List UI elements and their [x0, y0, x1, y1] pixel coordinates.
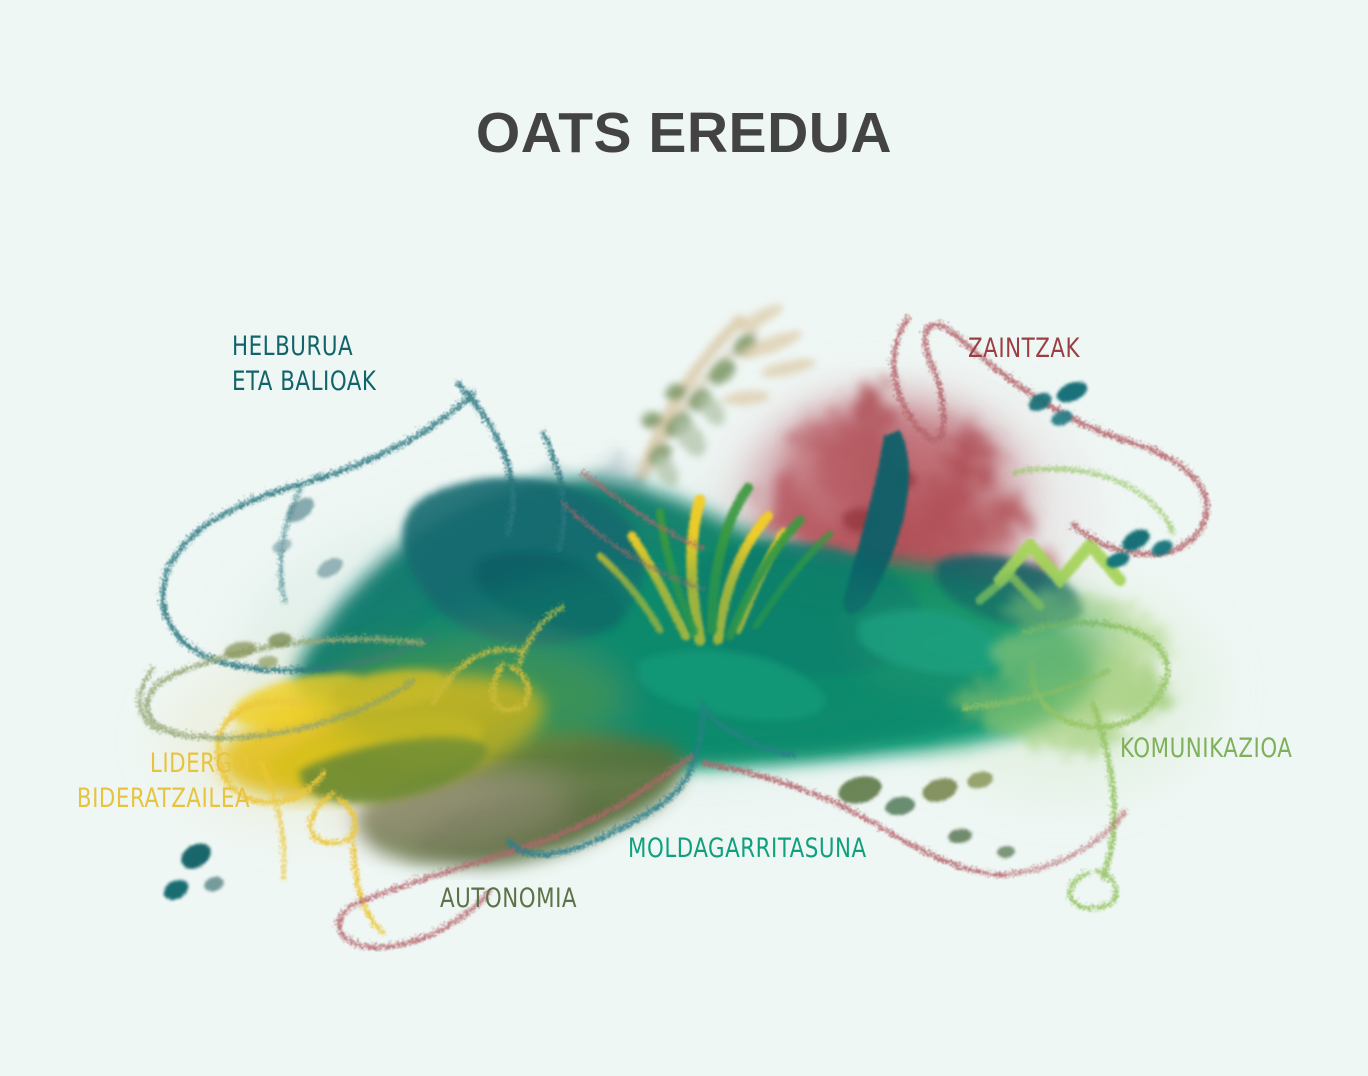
label-moldagarritasuna: MOLDAGARRITASUNA: [628, 832, 892, 867]
label-lidergo-bideratzailea: LIDERGO BIDERATZAILEA: [56, 747, 250, 816]
label-autonomia: AUTONOMIA: [440, 882, 616, 917]
abstract-artwork: [0, 0, 1368, 1076]
poster-canvas: OATS EREDUA: [0, 0, 1368, 1076]
label-zaintzak: ZAINTZAK: [968, 332, 1170, 367]
label-komunikazioa: KOMUNIKAZIOA: [1120, 732, 1340, 767]
label-helburua-eta-balioak: HELBURUA ETA BALIOAK: [232, 330, 421, 399]
